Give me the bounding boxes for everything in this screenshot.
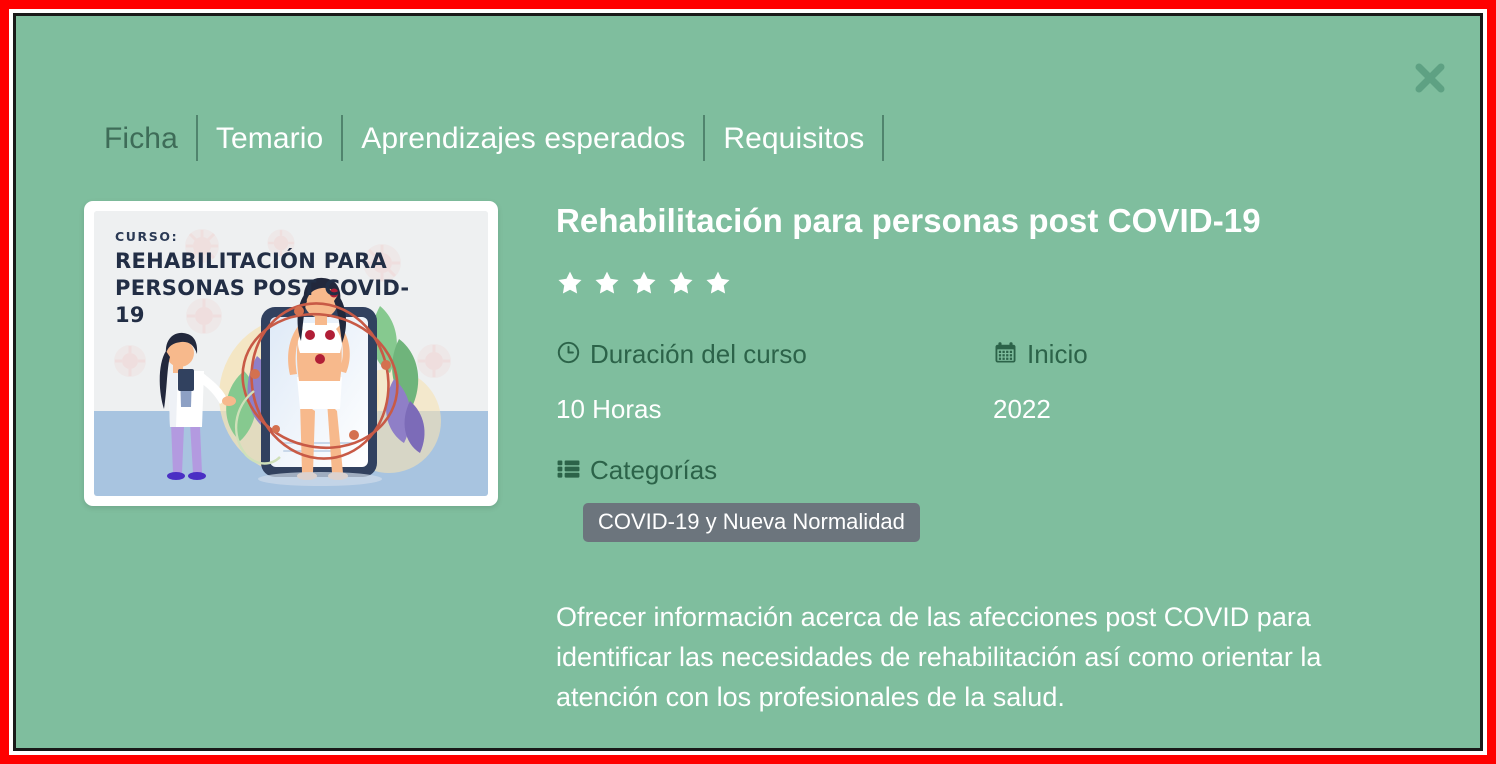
meta-duration: Duración del curso 10 Horas [556, 340, 993, 422]
calendar-icon [993, 340, 1018, 369]
close-icon[interactable] [1410, 58, 1450, 98]
star-icon [667, 269, 695, 302]
course-thumbnail-image: CURSO: Rehabilitación para personas post… [94, 211, 488, 496]
modal-body: CURSO: Rehabilitación para personas post… [16, 201, 1480, 745]
tab-ficha-label: Ficha [104, 124, 178, 154]
start-value: 2022 [993, 396, 1088, 422]
tab-separator [341, 115, 343, 161]
star-icon [593, 269, 621, 302]
clock-icon [556, 340, 581, 369]
course-meta: Duración del curso 10 Horas [556, 340, 1420, 422]
tab-separator [882, 115, 884, 161]
course-thumbnail-card[interactable]: CURSO: Rehabilitación para personas post… [84, 201, 498, 506]
tab-aprendizajes-esperados[interactable]: Aprendizajes esperados [343, 111, 703, 167]
duration-label-row: Duración del curso [556, 340, 993, 369]
tab-temario-label: Temario [216, 124, 323, 154]
page-title: Rehabilitación para personas post COVID-… [556, 201, 1420, 241]
modal-tabs: Ficha Temario Aprendizajes esperados Req… [88, 111, 884, 167]
categories-label: Categorías [590, 457, 717, 483]
list-icon [556, 456, 581, 485]
tab-aprendizajes-label: Aprendizajes esperados [361, 124, 685, 154]
tab-separator [196, 115, 198, 161]
duration-label: Duración del curso [590, 341, 807, 367]
categories-label-row: Categorías [556, 456, 1420, 485]
status-badge[interactable]: COVID-19 y Nueva Normalidad [583, 503, 920, 542]
category-badge-list: COVID-19 y Nueva Normalidad [583, 503, 1420, 542]
duration-value: 10 Horas [556, 396, 993, 422]
tab-requisitos[interactable]: Requisitos [705, 111, 882, 167]
highlight-inner-ring: Ficha Temario Aprendizajes esperados Req… [9, 9, 1487, 755]
start-label-row: Inicio [993, 340, 1088, 369]
course-detail-modal: Ficha Temario Aprendizajes esperados Req… [16, 16, 1480, 748]
highlight-dark-ring: Ficha Temario Aprendizajes esperados Req… [13, 13, 1483, 751]
star-icon [556, 269, 584, 302]
tab-requisitos-label: Requisitos [723, 124, 864, 154]
course-description: Ofrecer información acerca de las afecci… [556, 598, 1420, 718]
annotated-screenshot-frame: Ficha Temario Aprendizajes esperados Req… [0, 0, 1496, 764]
tab-ficha[interactable]: Ficha [88, 111, 196, 167]
star-icon [704, 269, 732, 302]
rating-stars [556, 269, 1420, 302]
course-categories: Categorías COVID-19 y Nueva Normalidad [556, 456, 1420, 542]
course-details: Rehabilitación para personas post COVID-… [556, 201, 1480, 745]
tab-temario[interactable]: Temario [198, 111, 341, 167]
meta-start: Inicio 2022 [993, 340, 1088, 422]
tab-separator [703, 115, 705, 161]
start-label: Inicio [1027, 341, 1088, 367]
star-icon [630, 269, 658, 302]
